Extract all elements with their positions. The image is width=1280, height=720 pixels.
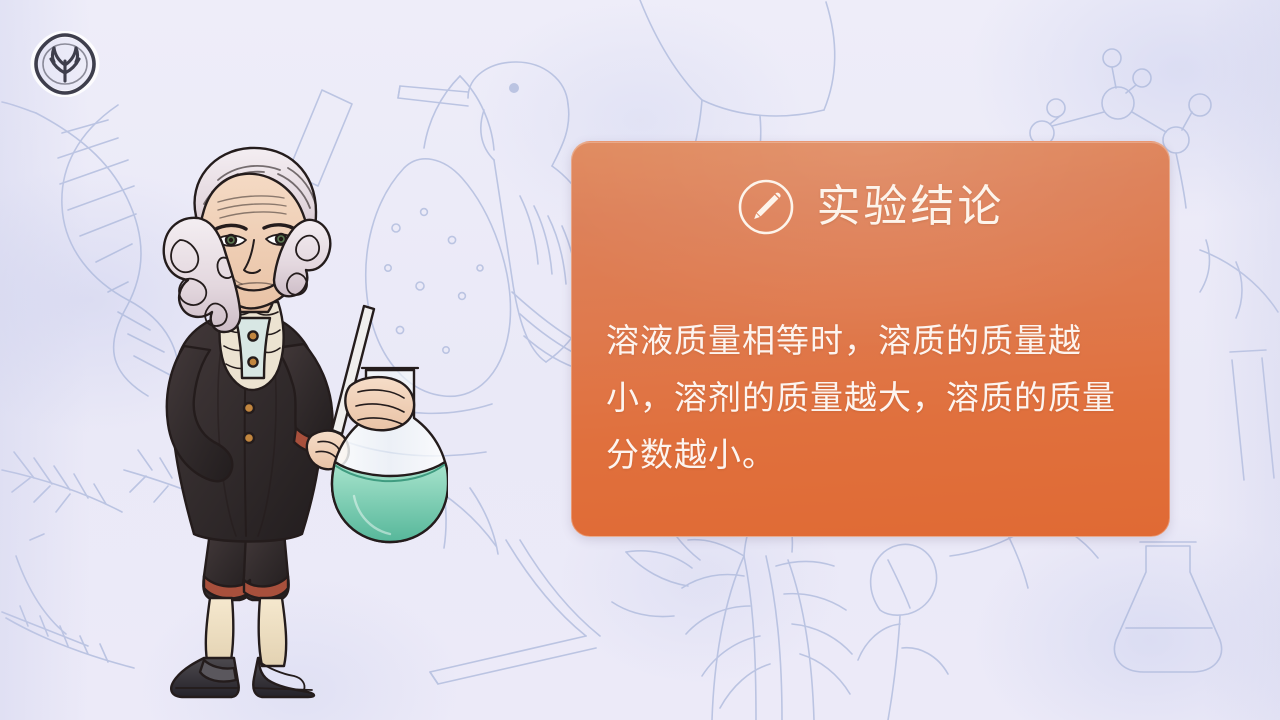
pencil-circle-icon	[737, 178, 795, 236]
slide-stage: 实验结论 溶液质量相等时，溶质的质量越小，溶剂的质量越大，溶质的质量分数越小。	[0, 0, 1280, 720]
stand-sketch	[430, 540, 600, 684]
conclusion-card: 实验结论 溶液质量相等时，溶质的质量越小，溶剂的质量越大，溶质的质量分数越小。	[571, 141, 1170, 537]
legs	[203, 532, 288, 666]
card-body-text: 溶液质量相等时，溶质的质量越小，溶剂的质量越大，溶质的质量分数越小。	[606, 312, 1135, 483]
shoes	[171, 658, 314, 697]
card-header: 实验结论	[572, 178, 1169, 236]
measuring-sticks-sketch	[6, 606, 134, 668]
chemist-scientist-illustration	[118, 140, 448, 700]
right-hand-on-flask	[345, 377, 414, 430]
bud-sketch	[858, 544, 948, 720]
tube-sketch-right	[1230, 350, 1274, 480]
beaker-sketch	[1114, 542, 1221, 672]
leaf-branch-sketch	[1200, 240, 1278, 318]
card-title: 实验结论	[817, 185, 1005, 229]
plant-emblem-logo[interactable]	[30, 31, 100, 97]
feather-sketch	[2, 452, 122, 512]
